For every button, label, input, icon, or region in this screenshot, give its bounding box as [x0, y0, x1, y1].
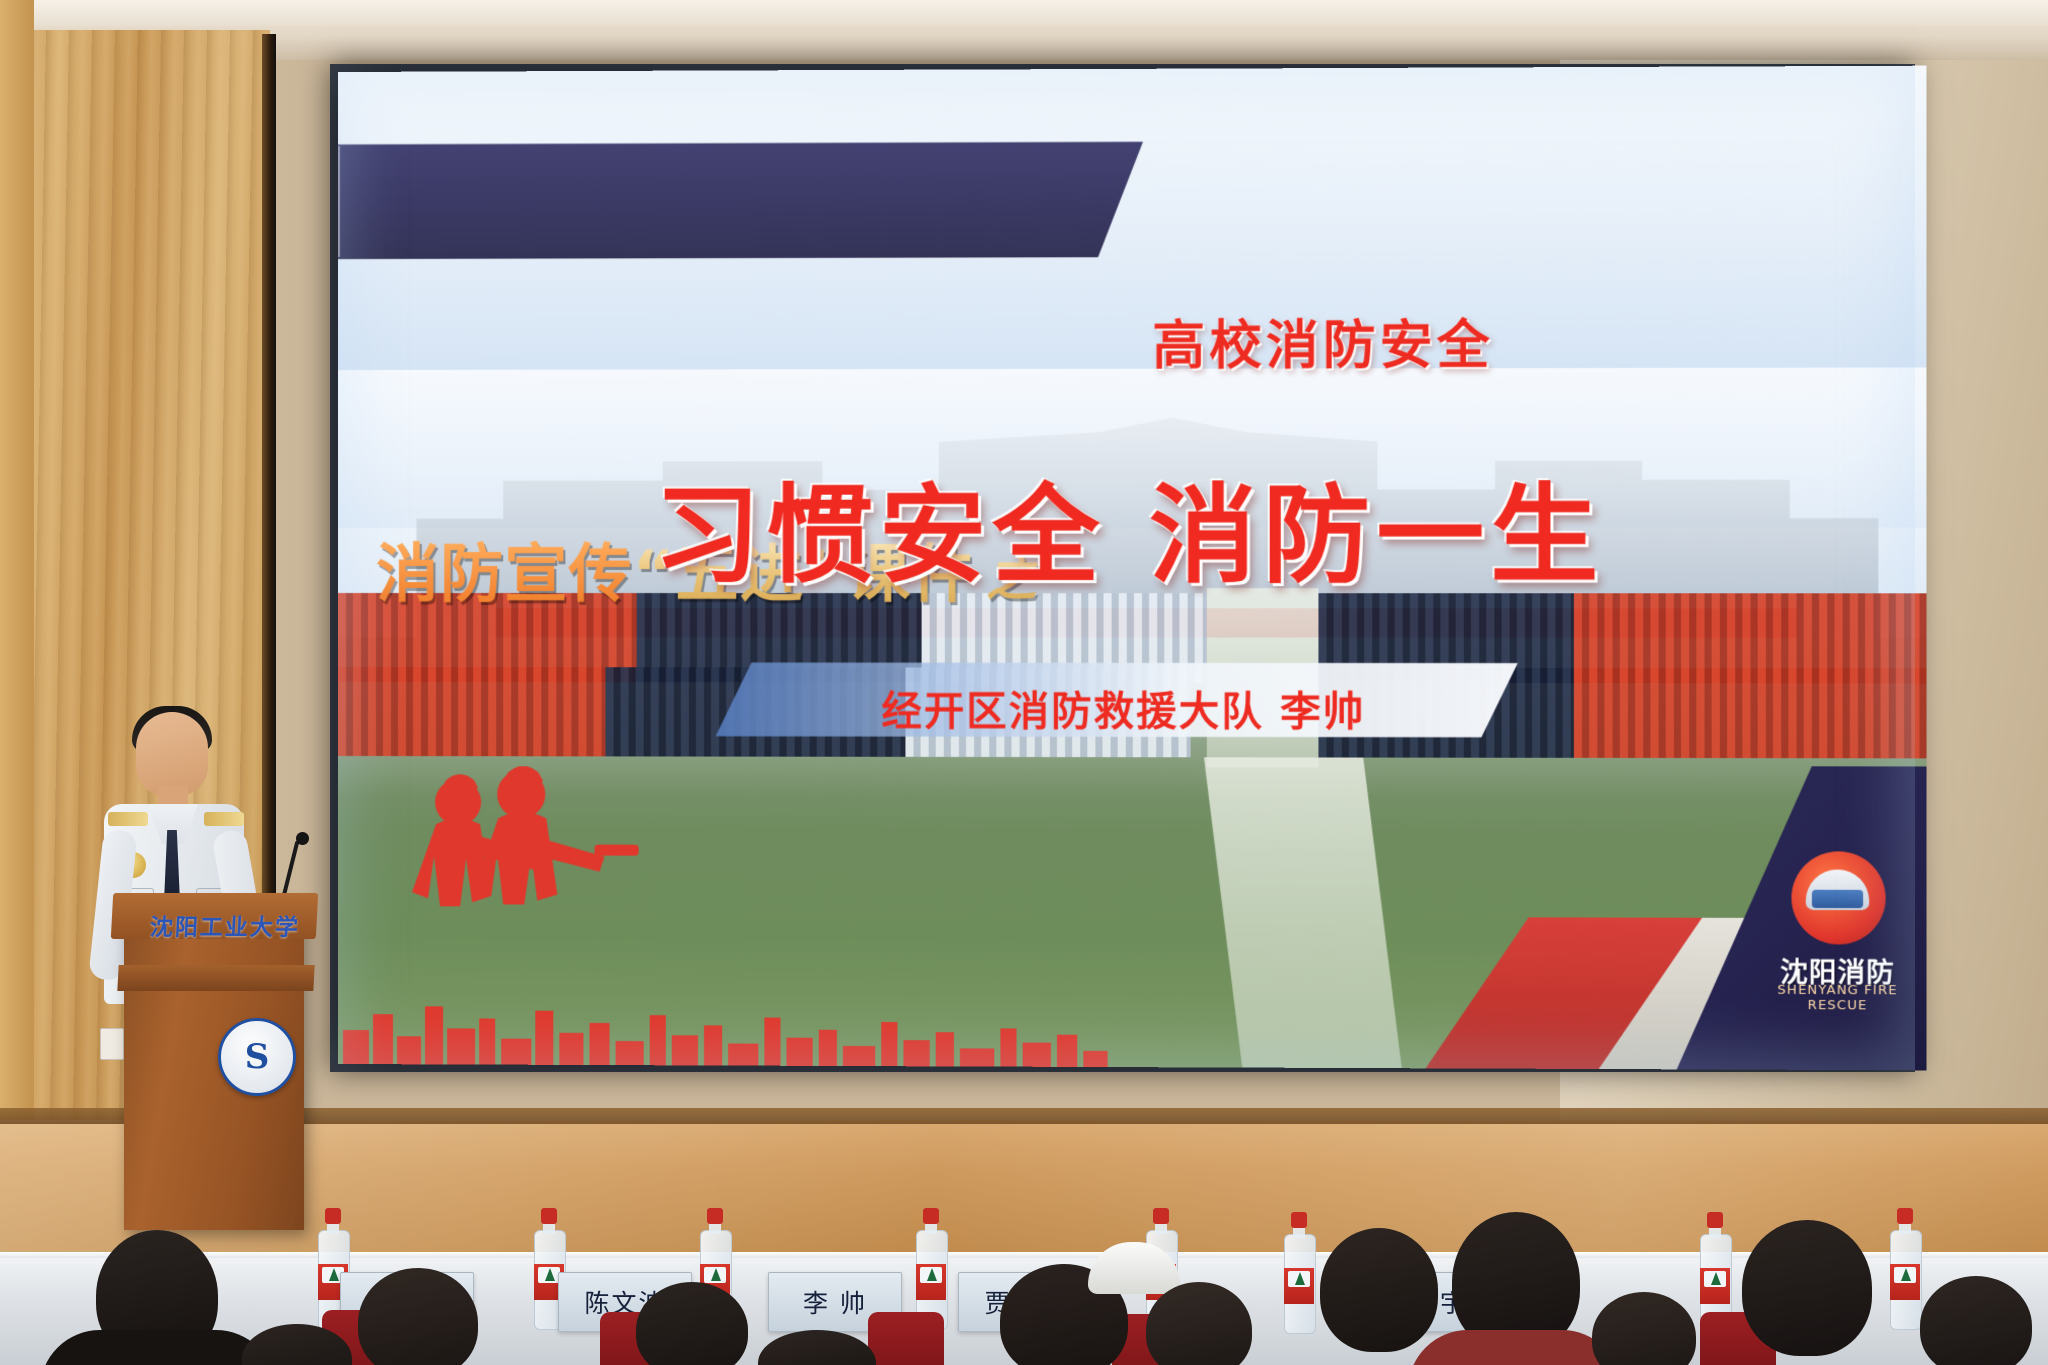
- slide-subheading: 高校消防安全: [1152, 303, 1493, 379]
- chair: [868, 1312, 944, 1365]
- podium-ledge: [117, 965, 314, 991]
- university-emblem: S: [218, 1018, 296, 1096]
- audience-head: [1920, 1276, 2032, 1365]
- water-bottle: [916, 1208, 946, 1328]
- podium-institution-label: 沈阳工业大学: [139, 908, 311, 942]
- water-bottle: [1890, 1208, 1920, 1328]
- title-part-orange: 消防宣传: [376, 536, 633, 609]
- screenshot-scene: 消防宣传“五进”课件之 高校消防安全 习惯安全 消防一生 经开区消防救援大队 李…: [0, 0, 2048, 1365]
- ribbon-highlight-edge: [338, 146, 340, 257]
- slide-title-ribbon: [338, 142, 1143, 260]
- slide-speaker-text: 经开区消防救援大队 李帅: [882, 679, 1366, 738]
- parade-rank-red-left-2: [338, 667, 605, 757]
- firefighter-silhouette-pair: [388, 766, 639, 1017]
- logo-subtitle: SHENYANG FIRE RESCUE: [1761, 983, 1915, 1014]
- led-screen[interactable]: 消防宣传“五进”课件之 高校消防安全 习惯安全 消防一生 经开区消防救援大队 李…: [338, 66, 1927, 1071]
- parade-rank-red-right-2: [1574, 668, 1927, 759]
- microphone-head-icon: [296, 832, 309, 845]
- speaker-epaulet-right: [204, 812, 244, 826]
- fire-rescue-logo: 沈阳消防 SHENYANG FIRE RESCUE: [1761, 841, 1915, 1011]
- baseboard: [0, 1108, 2048, 1124]
- emblem-letter: S: [221, 1021, 293, 1093]
- audience-head: [1742, 1220, 1872, 1356]
- audience-shoulders: [40, 1330, 276, 1365]
- speaker-head: [136, 712, 208, 796]
- ceiling-strip: [0, 0, 2048, 26]
- speaker-epaulet-left: [108, 812, 148, 826]
- slide-headline: 习惯安全 消防一生: [654, 448, 1605, 604]
- water-bottle: [1284, 1212, 1314, 1332]
- audience-head: [1320, 1228, 1438, 1352]
- visor-icon: [1812, 890, 1863, 908]
